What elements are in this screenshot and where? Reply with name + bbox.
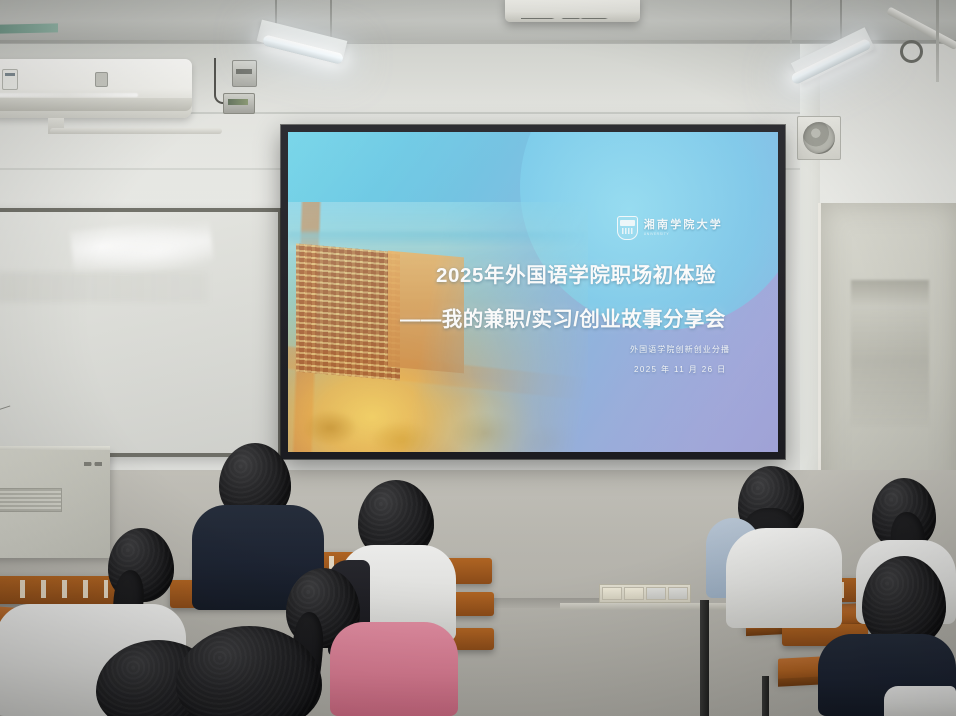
whiteboard-light-reflection	[70, 217, 214, 279]
power-outlet[interactable]	[624, 587, 644, 600]
slide-organizer: 外国语学院创新创业分播	[630, 344, 730, 355]
power-outlet[interactable]	[668, 587, 688, 600]
university-name-en: UNIVERSITY	[644, 233, 723, 236]
ac-pipe	[50, 128, 222, 134]
power-outlet[interactable]	[602, 587, 622, 600]
ceiling-seam	[0, 40, 956, 43]
desk-leg	[700, 600, 709, 716]
wall-green-strip	[0, 23, 58, 33]
photo-tree-canopy	[288, 366, 588, 452]
wall-ventilation-fan	[797, 116, 841, 160]
whiteboard-marker-residue	[0, 396, 10, 411]
window-hook-ring	[900, 40, 923, 63]
projection-screen[interactable]: 湘南学院大学 UNIVERSITY 2025年外国语学院职场初体验 ——我的兼职…	[281, 125, 785, 459]
photo-building-left	[296, 243, 400, 380]
ac-highlight	[0, 93, 138, 97]
desk-leg	[762, 676, 769, 716]
light-hanger-rod-3	[790, 0, 792, 44]
ac-brand-label	[2, 69, 18, 90]
ceiling-projector	[505, 0, 640, 22]
slide-subtitle: ——我的兼职/实习/创业故事分享会	[400, 302, 726, 332]
classroom-photo-scene: 湘南学院大学 UNIVERSITY 2025年外国语学院职场初体验 ——我的兼职…	[0, 0, 956, 716]
lectern	[0, 450, 110, 558]
electrical-box-lower	[223, 93, 255, 114]
wall-power-outlets[interactable]	[599, 584, 691, 603]
slide-title: 2025年外国语学院职场初体验	[436, 258, 716, 288]
wall-air-conditioner	[0, 59, 192, 118]
torso	[726, 528, 842, 628]
window-hook-rod	[936, 0, 939, 82]
electrical-box-upper	[232, 60, 257, 87]
bench-slats	[4, 580, 108, 598]
whiteboard-smudge	[0, 272, 208, 302]
foreground-sleeve	[884, 686, 956, 716]
ac-button[interactable]	[95, 72, 108, 87]
university-logo: 湘南学院大学 UNIVERSITY	[617, 216, 723, 240]
ac-vent-louver	[0, 98, 192, 111]
slide-date: 2025 年 11 月 26 日	[634, 364, 727, 375]
right-wall-edge	[800, 44, 820, 514]
presentation-slide: 湘南学院大学 UNIVERSITY 2025年外国语学院职场初体验 ——我的兼职…	[288, 132, 778, 452]
whiteboard	[0, 208, 282, 457]
university-name-cn: 湘南学院大学	[644, 220, 723, 231]
torso	[330, 622, 458, 716]
lectern-speaker-grill	[0, 488, 62, 512]
university-crest-icon	[617, 216, 638, 240]
power-outlet[interactable]	[646, 587, 666, 600]
lectern-screw-dots	[84, 462, 102, 466]
